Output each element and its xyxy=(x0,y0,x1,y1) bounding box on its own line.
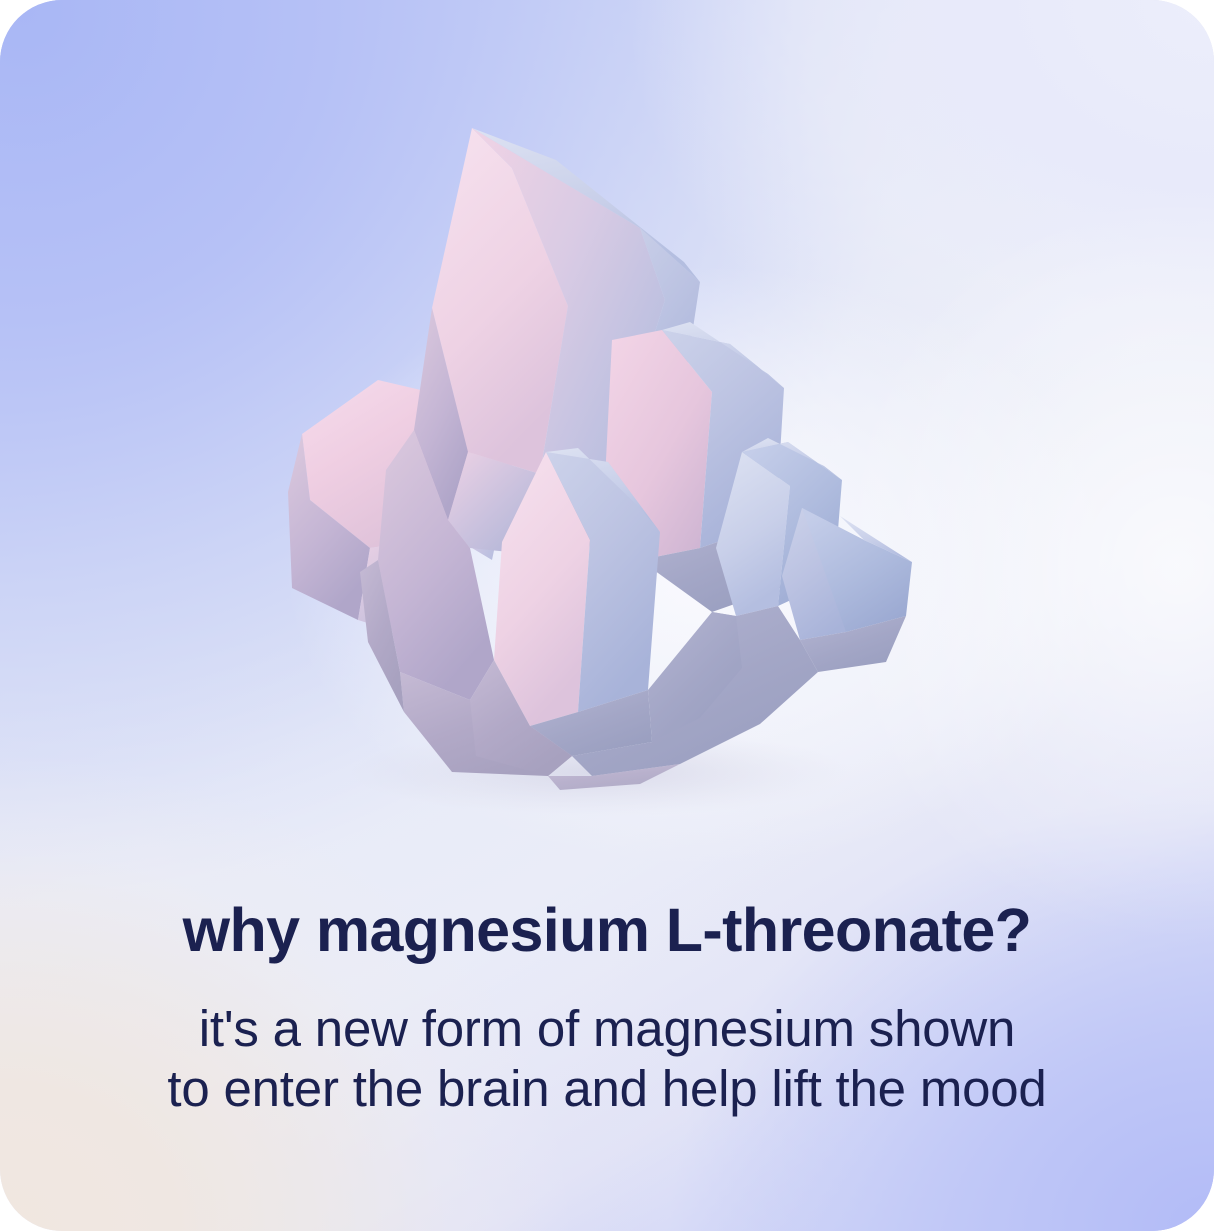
subtitle-line-2: to enter the brain and help lift the moo… xyxy=(0,1059,1214,1119)
subtitle: it's a new form of magnesium shown to en… xyxy=(0,999,1214,1119)
hero-image-area xyxy=(0,0,1214,880)
page-title: why magnesium L-threonate? xyxy=(0,893,1214,967)
subtitle-line-1: it's a new form of magnesium shown xyxy=(0,999,1214,1059)
product-feature-card: why magnesium L-threonate? it's a new fo… xyxy=(0,0,1214,1231)
copy-block: why magnesium L-threonate? it's a new fo… xyxy=(0,893,1214,1119)
magnesium-crystal-cluster-icon xyxy=(0,0,1214,880)
